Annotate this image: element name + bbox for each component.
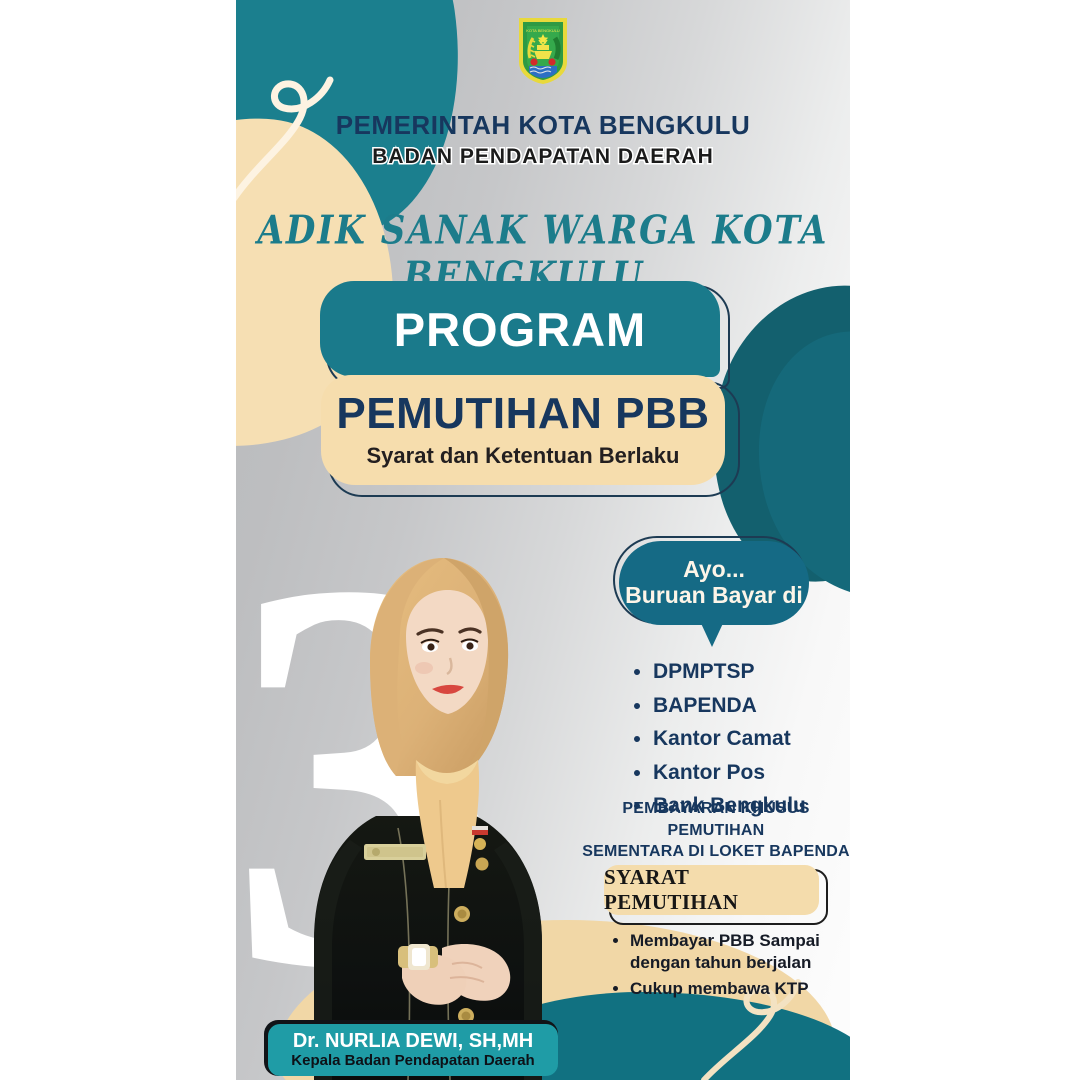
speech-bubble: Ayo... Buruan Bayar di — [619, 541, 814, 651]
program-card: PROGRAM PEMUTIHAN PBB Syarat dan Ketentu… — [320, 281, 740, 496]
speech-bubble-tail-icon — [699, 619, 725, 647]
poster-canvas: 3 KOTA BENGKULU — [0, 0, 1080, 1080]
requirements-heading: SYARAT PEMUTIHAN — [604, 865, 819, 915]
official-name-banner-body: Dr. NURLIA DEWI, SH,MH Kepala Badan Pend… — [268, 1024, 558, 1076]
agency-subtitle: BADAN PENDAPATAN DAERAH — [236, 145, 850, 169]
list-item: DPMPTSP — [653, 660, 850, 684]
list-item: Cukup membawa KTP — [630, 978, 850, 1000]
poster: 3 KOTA BENGKULU — [236, 0, 850, 1080]
requirements-list: Membayar PBB Sampai dengan tahun berjala… — [608, 930, 850, 1003]
list-item: Kantor Pos — [653, 761, 850, 785]
government-title: PEMERINTAH KOTA BENGKULU — [236, 110, 850, 141]
program-terms: Syarat dan Ketentuan Berlaku — [367, 443, 680, 469]
payment-note: PEMBAYARAN KHUSUS PEMUTIHAN SEMENTARA DI… — [576, 798, 850, 863]
svg-text:KOTA BENGKULU: KOTA BENGKULU — [526, 28, 560, 33]
program-label: PROGRAM — [394, 302, 646, 357]
program-label-banner: PROGRAM — [320, 281, 720, 377]
speech-bubble-line-1: Ayo... — [683, 557, 745, 583]
official-name-banner: Dr. NURLIA DEWI, SH,MH Kepala Badan Pend… — [268, 1024, 558, 1078]
list-item: BAPENDA — [653, 694, 850, 718]
program-name: PEMUTIHAN PBB — [336, 392, 709, 436]
official-name: Dr. NURLIA DEWI, SH,MH — [293, 1030, 533, 1052]
payment-note-line-1: PEMBAYARAN KHUSUS PEMUTIHAN — [576, 798, 850, 841]
requirements-banner: SYARAT PEMUTIHAN — [604, 865, 829, 921]
bengkulu-coat-of-arms-icon: KOTA BENGKULU — [515, 14, 571, 86]
list-item: Membayar PBB Sampai dengan tahun berjala… — [630, 930, 850, 974]
official-portrait-photo — [266, 548, 586, 1080]
program-name-banner: PEMUTIHAN PBB Syarat dan Ketentuan Berla… — [321, 375, 725, 485]
speech-bubble-body: Ayo... Buruan Bayar di — [619, 541, 809, 625]
list-item: Kantor Camat — [653, 727, 850, 751]
speech-bubble-line-2: Buruan Bayar di — [625, 583, 803, 609]
official-position: Kepala Badan Pendapatan Daerah — [291, 1052, 534, 1070]
payment-note-line-2: SEMENTARA DI LOKET BAPENDA — [576, 841, 850, 863]
requirements-banner-body: SYARAT PEMUTIHAN — [604, 865, 819, 915]
